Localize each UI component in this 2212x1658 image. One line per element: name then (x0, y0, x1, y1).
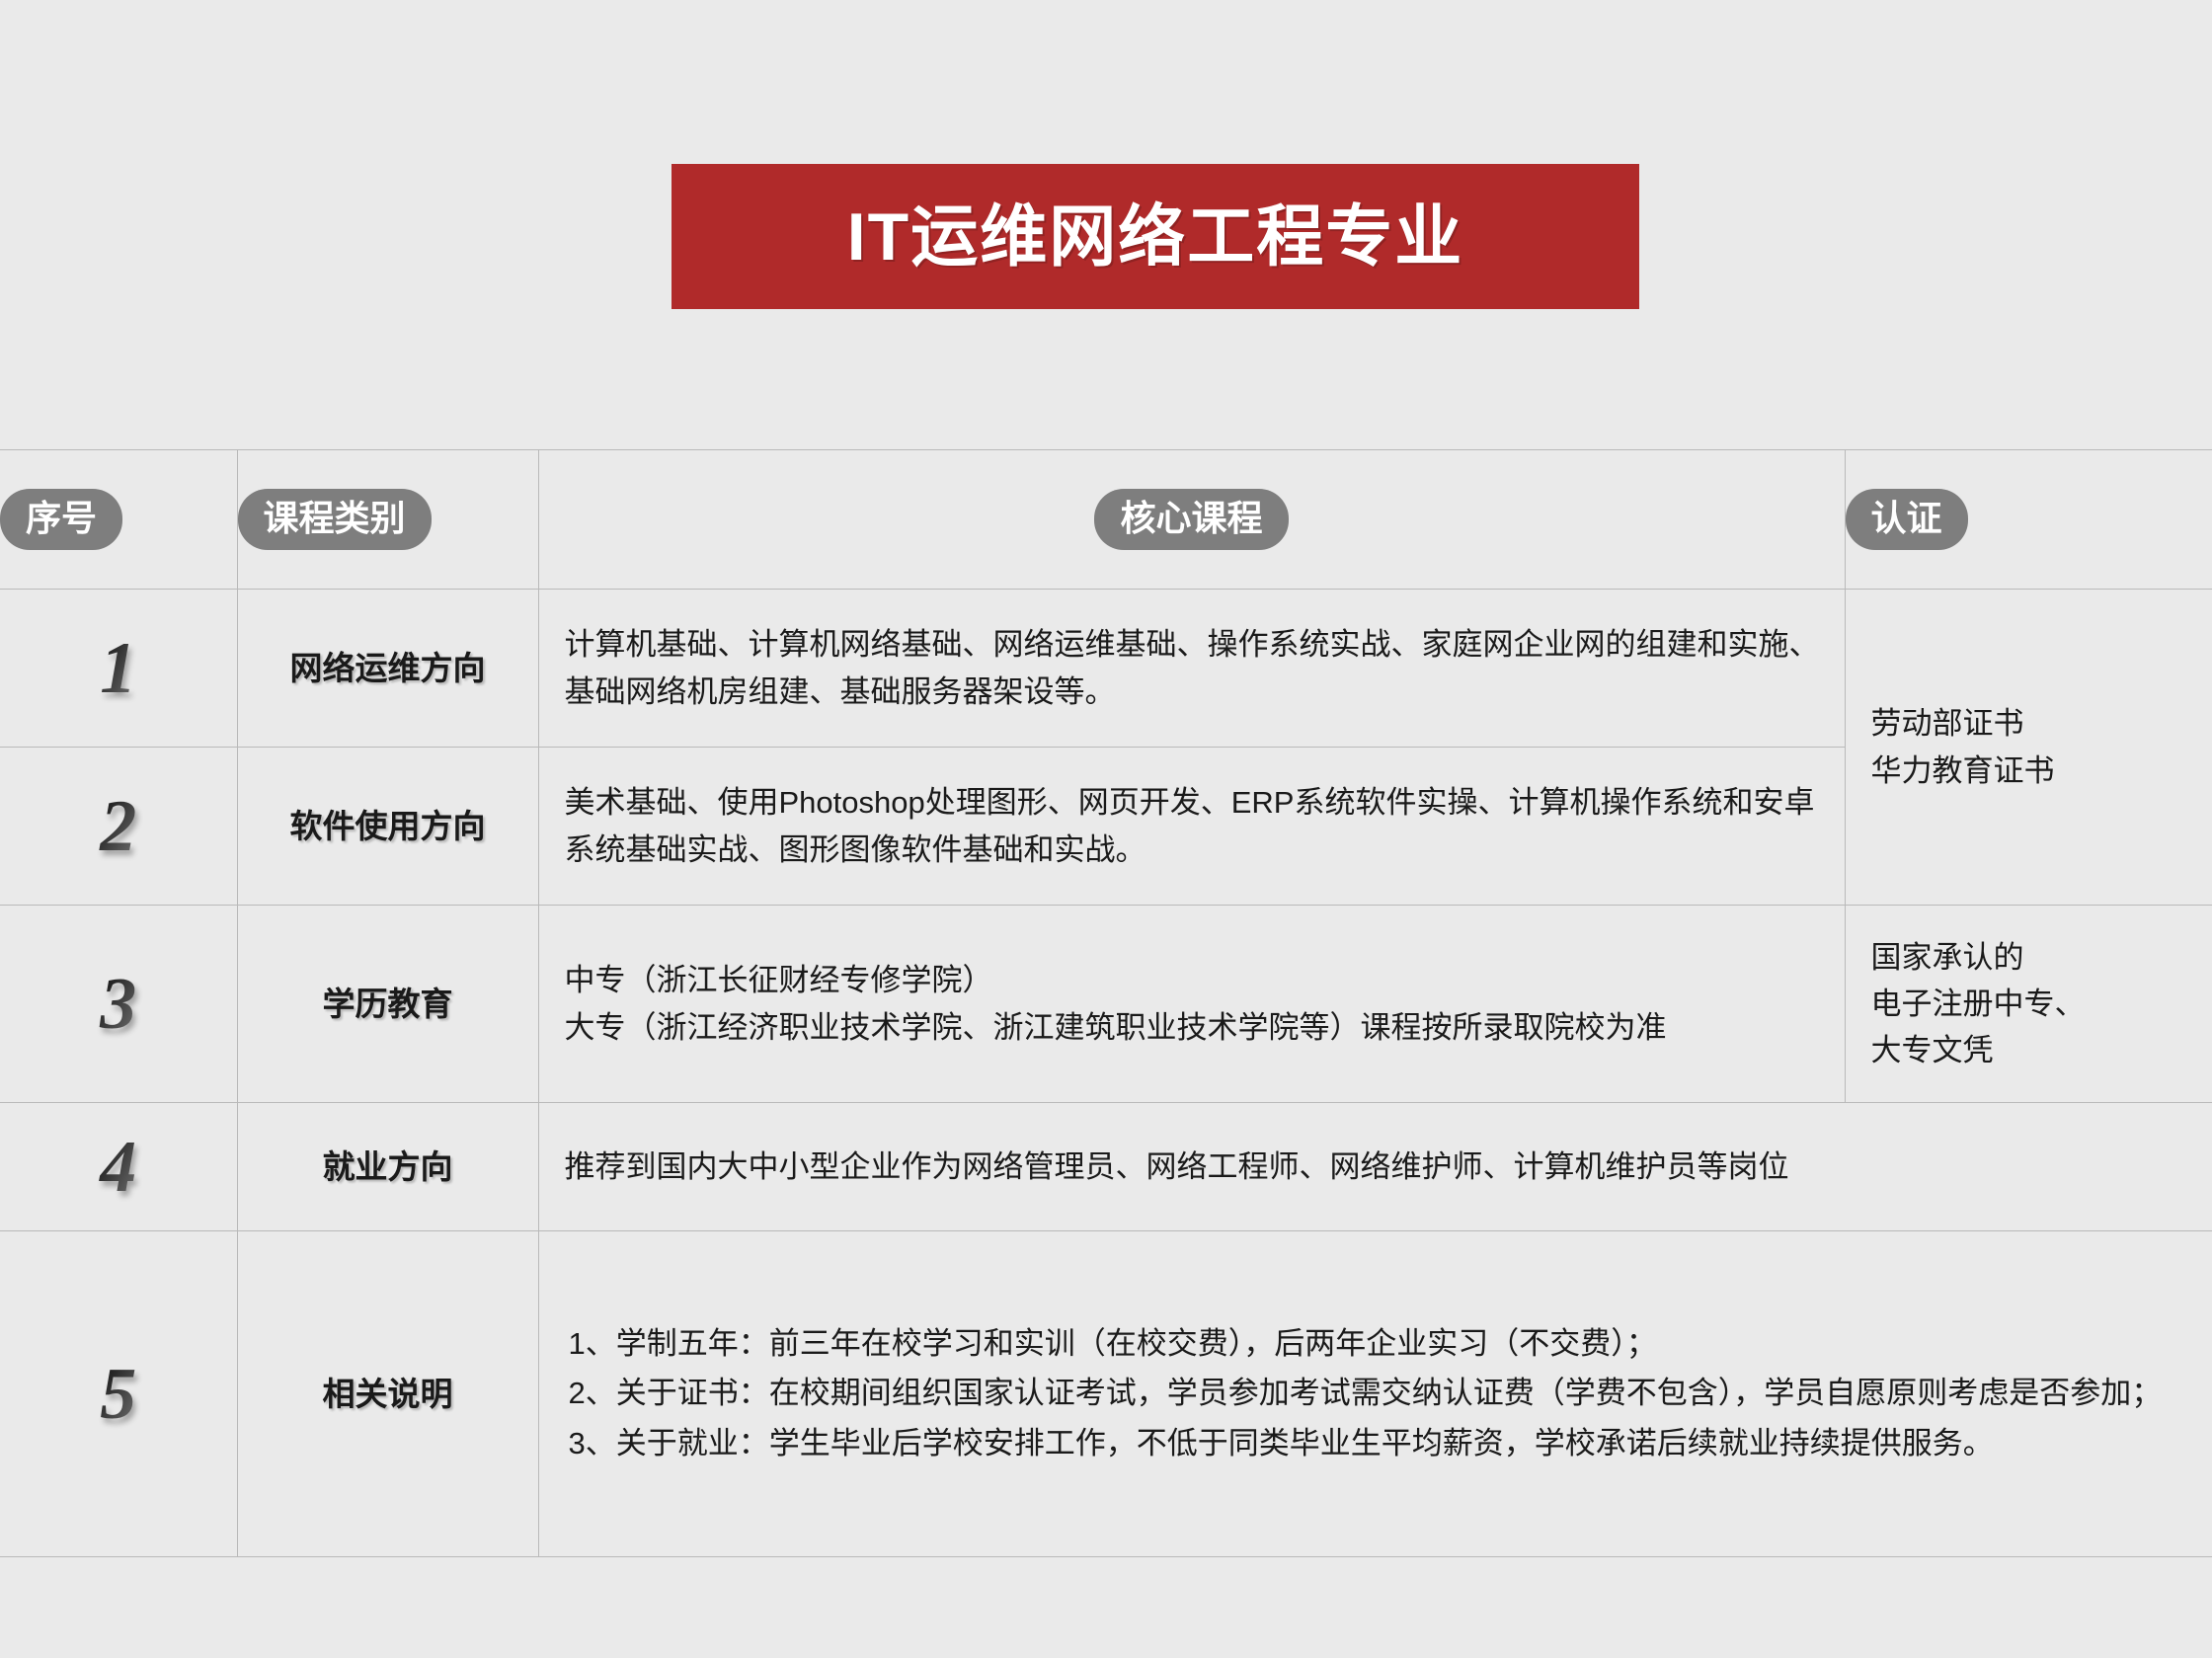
column-header-no: 序号 (0, 450, 237, 590)
row-core-cell: 中专（浙江长征财经专修学院） 大专（浙江经济职业技术学院、浙江建筑职业技术学院等… (538, 906, 1845, 1103)
column-header-no-label: 序号 (0, 489, 122, 550)
row-core-text: 中专（浙江长征财经专修学院） 大专（浙江经济职业技术学院、浙江建筑职业技术学院等… (539, 943, 1845, 1064)
table-row: 1 网络运维方向 计算机基础、计算机网络基础、网络运维基础、操作系统实战、家庭网… (0, 590, 2212, 748)
row-core-cell: 计算机基础、计算机网络基础、网络运维基础、操作系统实战、家庭网企业网的组建和实施… (538, 590, 1845, 748)
row-category-label: 学历教育 (238, 984, 538, 1024)
row-category-label: 网络运维方向 (238, 648, 538, 688)
row-category-label: 软件使用方向 (238, 806, 538, 846)
row-notes-list: 1、 学制五年： 前三年在校学习和实训（在校交费），后两年企业实习（不交费）； … (539, 1300, 2212, 1488)
row-number-cell: 1 (0, 590, 237, 748)
row-number-cell: 3 (0, 906, 237, 1103)
table-row: 4 就业方向 推荐到国内大中小型企业作为网络管理员、网络工程师、网络维护师、计算… (0, 1103, 2212, 1231)
row-number-cell: 2 (0, 748, 237, 906)
column-header-category: 课程类别 (237, 450, 538, 590)
note-index: 1、 (569, 1319, 616, 1369)
table-row: 5 相关说明 1、 学制五年： 前三年在校学习和实训（在校交费），后两年企业实习… (0, 1231, 2212, 1557)
note-label: 学制五年： (616, 1319, 769, 1369)
title-banner: IT运维网络工程专业 (671, 164, 1639, 309)
column-header-category-label: 课程类别 (238, 489, 432, 550)
curriculum-table: 序号 课程类别 核心课程 认证 1 网络运维方向 计算机基础、计算机网络基础、网… (0, 449, 2212, 1557)
header-area: IT运维网络工程专业 (0, 0, 2212, 449)
note-label: 关于就业： (616, 1419, 769, 1468)
column-header-core: 核心课程 (538, 450, 1845, 590)
row-cert-text: 国家承认的 电子注册中专、 大专文凭 (1846, 924, 2212, 1083)
list-item: 3、 关于就业： 学生毕业后学校安排工作，不低于同类毕业生平均薪资，学校承诺后续… (569, 1419, 2191, 1468)
note-label: 关于证书： (616, 1369, 769, 1418)
note-body: 在校期间组织国家认证考试，学员参加考试需交纳认证费（学费不包含），学员自愿原则考… (769, 1369, 2190, 1418)
row-core-cell: 美术基础、使用Photoshop处理图形、网页开发、ERP系统软件实操、计算机操… (538, 748, 1845, 906)
row-number: 1 (0, 632, 237, 705)
note-body: 学生毕业后学校安排工作，不低于同类毕业生平均薪资，学校承诺后续就业持续提供服务。 (769, 1419, 2190, 1468)
row-category-cell: 网络运维方向 (237, 590, 538, 748)
row-core-text: 美术基础、使用Photoshop处理图形、网页开发、ERP系统软件实操、计算机操… (539, 765, 1845, 886)
column-header-cert: 认证 (1845, 450, 2212, 590)
row-number: 4 (0, 1131, 237, 1204)
column-header-cert-label: 认证 (1846, 489, 1968, 550)
page-title: IT运维网络工程专业 (847, 203, 1463, 271)
note-body: 前三年在校学习和实训（在校交费），后两年企业实习（不交费）； (769, 1319, 2190, 1369)
row-category-cell: 学历教育 (237, 906, 538, 1103)
note-index: 2、 (569, 1369, 616, 1418)
list-item: 1、 学制五年： 前三年在校学习和实训（在校交费），后两年企业实习（不交费）； (569, 1319, 2191, 1369)
row-category-label: 相关说明 (238, 1374, 538, 1414)
table-row: 3 学历教育 中专（浙江长征财经专修学院） 大专（浙江经济职业技术学院、浙江建筑… (0, 906, 2212, 1103)
table-header-row: 序号 课程类别 核心课程 认证 (0, 450, 2212, 590)
column-header-core-label: 核心课程 (1094, 489, 1288, 550)
row-category-label: 就业方向 (238, 1146, 538, 1187)
list-item: 2、 关于证书： 在校期间组织国家认证考试，学员参加考试需交纳认证费（学费不包含… (569, 1369, 2191, 1418)
row-cert-cell: 劳动部证书 华力教育证书 (1845, 590, 2212, 906)
note-index: 3、 (569, 1419, 616, 1468)
row-category-cell: 相关说明 (237, 1231, 538, 1557)
row-category-cell: 就业方向 (237, 1103, 538, 1231)
row-number: 3 (0, 968, 237, 1041)
row-core-text: 推荐到国内大中小型企业作为网络管理员、网络工程师、网络维护师、计算机维护员等岗位 (539, 1130, 2212, 1204)
row-number-cell: 5 (0, 1231, 237, 1557)
row-cert-text: 劳动部证书 华力教育证书 (1846, 690, 2212, 803)
row-core-cell: 推荐到国内大中小型企业作为网络管理员、网络工程师、网络维护师、计算机维护员等岗位 (538, 1103, 2212, 1231)
row-number: 5 (0, 1358, 237, 1431)
row-core-text: 计算机基础、计算机网络基础、网络运维基础、操作系统实战、家庭网企业网的组建和实施… (539, 607, 1845, 728)
column-header-core-wrap: 核心课程 (539, 489, 1845, 550)
row-notes-cell: 1、 学制五年： 前三年在校学习和实训（在校交费），后两年企业实习（不交费）； … (538, 1231, 2212, 1557)
row-number: 2 (0, 790, 237, 863)
row-number-cell: 4 (0, 1103, 237, 1231)
row-category-cell: 软件使用方向 (237, 748, 538, 906)
row-cert-cell: 国家承认的 电子注册中专、 大专文凭 (1845, 906, 2212, 1103)
